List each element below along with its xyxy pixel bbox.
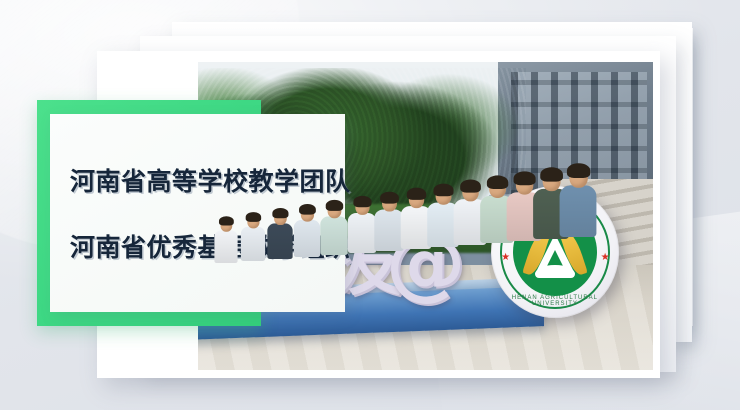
photo-person-hair — [433, 184, 453, 197]
photo-person-head — [354, 199, 368, 215]
photo-person-torso — [294, 220, 321, 257]
photo-person-hair — [566, 163, 589, 178]
photo-person — [347, 199, 376, 253]
photo-person — [294, 207, 321, 257]
photo-person-head — [569, 167, 587, 188]
photo-person — [321, 203, 349, 255]
photo-person-hair — [299, 204, 316, 215]
photo-person-hair — [406, 188, 425, 200]
photo-person-head — [220, 219, 232, 232]
photo-person-head — [488, 179, 505, 198]
photo-person-hair — [272, 208, 288, 218]
photo-person-head — [462, 183, 478, 202]
photo-person-hair — [326, 200, 343, 211]
photo-person-head — [274, 211, 287, 225]
emblem-text-bottom: HENAN AGRICULTURAL UNIVERSITY — [491, 295, 619, 307]
photo-person — [374, 195, 404, 251]
photo-person-torso — [268, 223, 293, 259]
emblem-book-icon — [535, 265, 575, 278]
photo-person-hair — [352, 196, 370, 207]
photo-person-hair — [246, 212, 261, 222]
photo-person-head — [328, 203, 342, 219]
photo-person-head — [435, 187, 451, 205]
photo-person-torso — [321, 217, 349, 256]
photo-person-hair — [513, 171, 535, 185]
emblem-star-left: ★ — [501, 254, 509, 262]
photo-person — [559, 167, 596, 237]
photo-person-hair — [459, 180, 480, 193]
photo-person-head — [301, 207, 314, 222]
photo-person-head — [381, 195, 396, 212]
photo-person-torso — [241, 227, 265, 261]
photo-person-torso — [215, 230, 238, 263]
photo-person-torso — [374, 210, 404, 251]
photo-person — [268, 211, 293, 259]
photo-person-head — [247, 215, 259, 229]
photo-person-head — [408, 191, 423, 208]
photo-person-hair — [486, 176, 507, 190]
photo-person-head — [542, 171, 560, 191]
photo-person — [241, 215, 265, 261]
emblem-star-right: ★ — [601, 254, 609, 262]
slide-canvas: 归 来 校 友 @ 河南农业大学 HENAN AGRICULTURAL UNIV… — [0, 0, 740, 410]
award-title-line-1: 河南省高等学校教学团队 — [70, 162, 325, 198]
photo-person-hair — [379, 192, 398, 204]
photo-person — [215, 219, 238, 263]
photo-person-head — [515, 175, 532, 195]
photo-person-torso — [559, 185, 596, 237]
photo-person-hair — [219, 216, 234, 225]
photo-person-torso — [347, 213, 376, 253]
